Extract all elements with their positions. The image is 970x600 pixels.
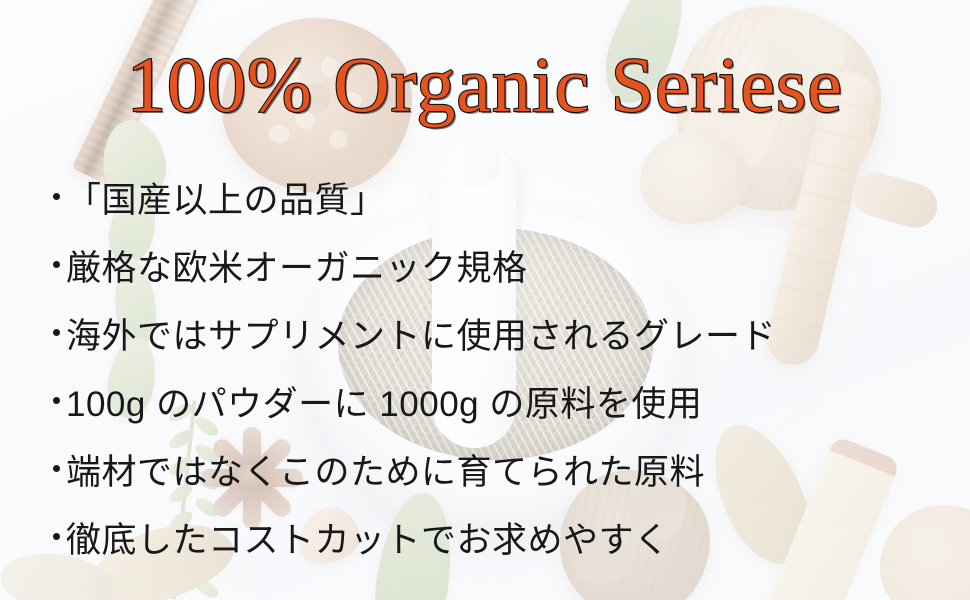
bullet-text: 厳格な欧米オーガニック規格 xyxy=(66,240,528,291)
bullet-marker-icon: ・ xyxy=(40,249,66,282)
banner-content: 100% Organic Seriese ・ 「国産以上の品質」 ・ 厳格な欧米… xyxy=(0,0,970,600)
headline-title: 100% Organic Seriese xyxy=(0,46,970,124)
bullet-text: 徹底したコストカットでお求めやすく xyxy=(66,512,670,563)
bullet-marker-icon: ・ xyxy=(40,521,66,554)
bullet-marker-icon: ・ xyxy=(40,453,66,486)
feature-bullet-list: ・ 「国産以上の品質」 ・ 厳格な欧米オーガニック規格 ・ 海外ではサプリメント… xyxy=(40,163,940,571)
list-item: ・ 「国産以上の品質」 xyxy=(40,163,940,231)
bullet-text: 端材ではなくこのために育てられた原料 xyxy=(66,444,705,495)
bullet-text: 海外ではサプリメントに使用されるグレード xyxy=(66,308,776,359)
bullet-marker-icon: ・ xyxy=(40,317,66,350)
list-item: ・ 厳格な欧米オーガニック規格 xyxy=(40,231,940,299)
bullet-marker-icon: ・ xyxy=(40,385,66,418)
bullet-text: 「国産以上の品質」 xyxy=(66,172,386,223)
list-item: ・ 端材ではなくこのために育てられた原料 xyxy=(40,435,940,503)
organic-series-banner: 100% Organic Seriese ・ 「国産以上の品質」 ・ 厳格な欧米… xyxy=(0,0,970,600)
list-item: ・ 海外ではサプリメントに使用されるグレード xyxy=(40,299,940,367)
list-item: ・ 徹底したコストカットでお求めやすく xyxy=(40,503,940,571)
list-item: ・ 100g のパウダーに 1000g の原料を使用 xyxy=(40,367,940,435)
bullet-text: 100g のパウダーに 1000g の原料を使用 xyxy=(66,376,702,427)
bullet-marker-icon: ・ xyxy=(40,181,66,214)
